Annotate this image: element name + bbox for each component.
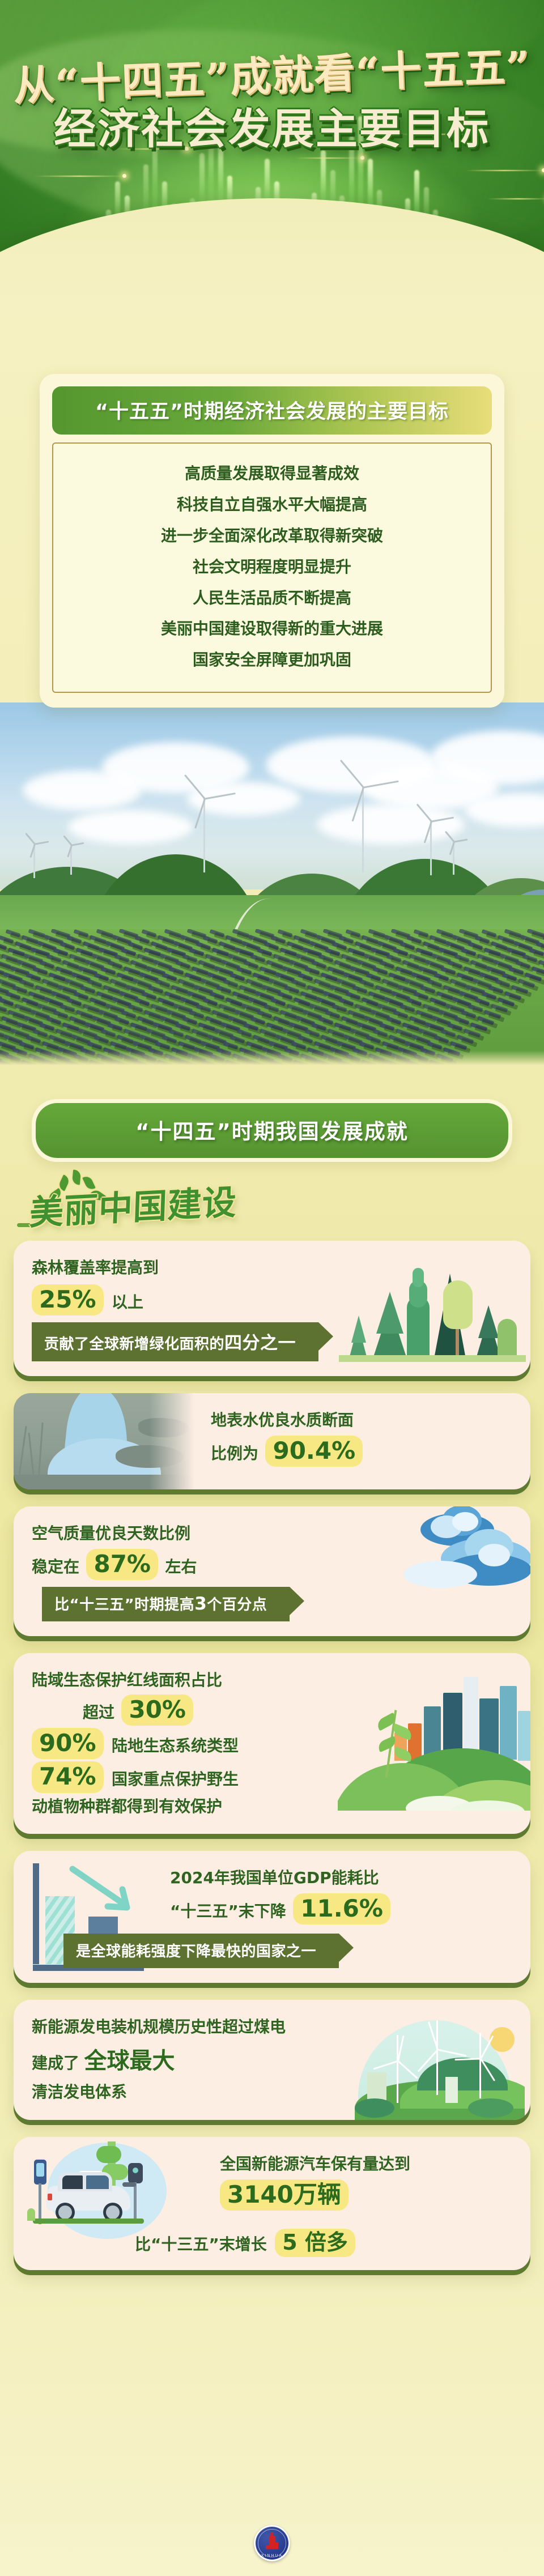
logo-text: XINHUA bbox=[254, 2554, 290, 2558]
hero-banner: 从“十四五”成就看“十五五” 经济社会发展主要目标 bbox=[0, 0, 544, 317]
card-line-1: 地表水优良水质断面 bbox=[211, 1408, 513, 1433]
card-nev-ownership[interactable]: 全国新能源汽车保有量达到 3140万辆 比“十三五”末增长 5 倍多 bbox=[14, 2137, 530, 2270]
xinhua-logo-icon: XINHUA bbox=[254, 2525, 290, 2561]
achievement-cards: 森林覆盖率提高到 25% 以上 贡献了全球新增绿化面积的四分之一 bbox=[0, 1237, 544, 2270]
goal-item: 美丽中国建设取得新的重大进展 bbox=[65, 614, 479, 645]
card-stat-tail: 动植物种群都得到有效保护 bbox=[32, 1794, 513, 1820]
card-ribbon: 是全球能耗强度下降最快的国家之一 bbox=[63, 1934, 339, 1968]
solar-farm-photo bbox=[0, 929, 544, 1065]
card-ribbon: 比“十三五”时期提高3个百分点 bbox=[42, 1587, 290, 1621]
card-line-1: 陆域生态保护红线面积占比 bbox=[32, 1668, 513, 1693]
card-value-prefix: 建成了 bbox=[32, 2054, 79, 2072]
achievements-header-outer: “十四五”时期我国发展成就 bbox=[32, 1099, 512, 1162]
card-gdp-energy-intensity[interactable]: 2024年我国单位GDP能耗比 “十三五”末下降 11.6% 是全球能耗强度下降… bbox=[14, 1851, 530, 1983]
goal-item: 高质量发展取得显著成效 bbox=[65, 458, 479, 489]
card-value-prefix: “十三五”末下降 bbox=[170, 1902, 286, 1921]
card-stat-b-value: 74% bbox=[32, 1761, 104, 1792]
goal-item: 科技自立自强水平大幅提高 bbox=[65, 489, 479, 521]
infographic-page: 从“十四五”成就看“十五五” 经济社会发展主要目标 “十五五”时期经济社会发展的… bbox=[0, 0, 544, 2576]
card-value: 3140万辆 bbox=[220, 2179, 348, 2211]
card-line-1: 全国新能源汽车保有量达到 bbox=[220, 2152, 513, 2177]
goals-section: “十五五”时期经济社会发展的主要目标 高质量发展取得显著成效 科技自立自强水平大… bbox=[40, 374, 504, 708]
card-value: 11.6% bbox=[293, 1893, 390, 1924]
goal-item: 进一步全面深化改革取得新突破 bbox=[65, 521, 479, 552]
achievements-header: “十四五”时期我国发展成就 bbox=[36, 1103, 508, 1158]
card-ribbon-post: 个百分点 bbox=[207, 1596, 267, 1613]
card-value: 87% bbox=[86, 1549, 158, 1580]
page-title-line-2: 经济社会发展主要目标 bbox=[0, 108, 544, 152]
achievements-header-wrap: “十四五”时期我国发展成就 bbox=[0, 1065, 544, 1162]
card-ribbon-prefix: 是全球能耗强度下降最快的国家之一 bbox=[76, 1943, 316, 1960]
card-ribbon-bold: 3 bbox=[194, 1594, 207, 1614]
card-value-prefix: 超过 bbox=[83, 1703, 114, 1722]
card-line-3: 清洁发电体系 bbox=[32, 2080, 513, 2105]
card-surface-water-quality[interactable]: 地表水优良水质断面 比例为 90.4% bbox=[14, 1393, 530, 1489]
card-ribbon-prefix: 比“十三五”时期提高 bbox=[54, 1596, 194, 1613]
card-value-suffix: 以上 bbox=[112, 1293, 143, 1312]
section-subtitle: 美丽中国建设 bbox=[29, 1174, 238, 1234]
goals-card-header: “十五五”时期经济社会发展的主要目标 bbox=[52, 386, 492, 435]
card-line-1: 空气质量优良天数比例 bbox=[32, 1521, 513, 1547]
card-ribbon-prefix: 贡献了全球新增绿化面积的 bbox=[44, 1336, 224, 1353]
goals-list: 高质量发展取得显著成效 科技自立自强水平大幅提高 进一步全面深化改革取得新突破 … bbox=[52, 442, 492, 693]
card-line-3-prefix: 比“十三五”末增长 bbox=[135, 2235, 267, 2254]
card-value-2: 5 倍多 bbox=[275, 2229, 355, 2257]
card-line-1: 森林覆盖率提高到 bbox=[32, 1255, 513, 1281]
achievements-section: “十四五”时期我国发展成就 美丽中国建设 bbox=[0, 1065, 544, 2275]
card-value: 25% bbox=[32, 1284, 104, 1315]
card-stat-a-value: 90% bbox=[32, 1728, 104, 1759]
goal-item: 国家安全屏障更加巩固 bbox=[65, 645, 479, 676]
card-value-prefix: 稳定在 bbox=[32, 1557, 79, 1576]
card-stat-b-label: 国家重点保护野生 bbox=[112, 1770, 239, 1789]
card-stat-a-label: 陆地生态系统类型 bbox=[112, 1736, 239, 1755]
card-value-prefix: 比例为 bbox=[211, 1444, 258, 1463]
goals-card: “十五五”时期经济社会发展的主要目标 高质量发展取得显著成效 科技自立自强水平大… bbox=[40, 374, 504, 708]
hero-title-group: 从“十四五”成就看“十五五” 经济社会发展主要目标 bbox=[0, 54, 544, 151]
card-forest-coverage[interactable]: 森林覆盖率提高到 25% 以上 贡献了全球新增绿化面积的四分之一 bbox=[14, 1241, 530, 1376]
card-ecological-redline[interactable]: 陆域生态保护红线面积占比 超过 30% 90% 陆地生态系统类型 74% 国家重… bbox=[14, 1653, 530, 1834]
card-ribbon-bold: 四分之一 bbox=[224, 1333, 296, 1353]
card-clean-power-capacity[interactable]: 新能源发电装机规模历史性超过煤电 建成了 全球最大 清洁发电体系 bbox=[14, 2000, 530, 2119]
card-value: 90.4% bbox=[265, 1436, 363, 1467]
goal-item: 人民生活品质不断提高 bbox=[65, 583, 479, 614]
card-line-2-bold: 全球最大 bbox=[84, 2048, 175, 2074]
footer: XINHUA bbox=[0, 2510, 544, 2576]
card-value: 30% bbox=[121, 1694, 193, 1726]
card-line-1: 2024年我国单位GDP能耗比 bbox=[170, 1866, 513, 1891]
card-value-suffix: 左右 bbox=[165, 1557, 197, 1576]
card-air-quality-days[interactable]: 空气质量优良天数比例 稳定在 87% 左右 比“十三五”时期提高3个百分点 bbox=[14, 1506, 530, 1636]
card-ribbon: 贡献了全球新增绿化面积的四分之一 bbox=[32, 1322, 318, 1361]
goal-item: 社会文明程度明显提升 bbox=[65, 552, 479, 583]
landscape-photo-band bbox=[0, 702, 544, 1065]
band-fade bbox=[0, 1050, 544, 1065]
card-line-1: 新能源发电装机规模历史性超过煤电 bbox=[32, 2015, 513, 2040]
